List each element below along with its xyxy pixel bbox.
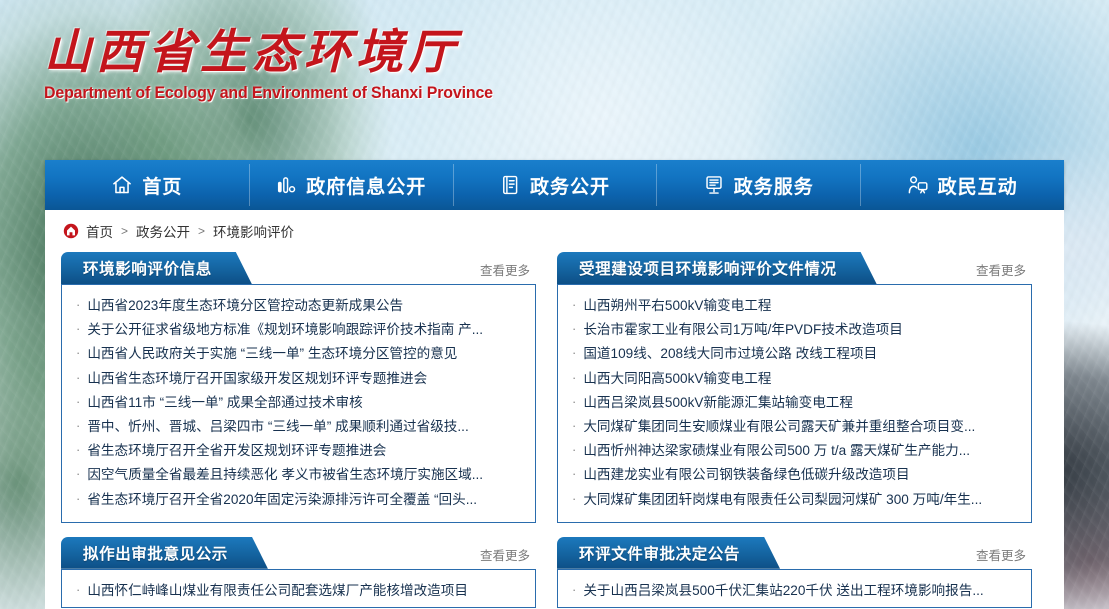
bullet-icon: · [76, 443, 80, 456]
bullet-icon: · [76, 492, 80, 505]
list-item[interactable]: ·山西怀仁峙峰山煤业有限责任公司配套选煤厂产能核增改造项目 [76, 579, 521, 603]
view-more-link[interactable]: 查看更多 [976, 545, 1032, 569]
bullet-icon: · [572, 583, 576, 596]
bullet-icon: · [572, 443, 576, 456]
bullet-icon: · [76, 419, 80, 432]
breadcrumb-separator: > [197, 224, 206, 238]
nav-item-government-affairs-disclosure[interactable]: 政务公开 [453, 160, 657, 210]
main-navigation[interactable]: 首页 政府信息公开 政务公开 [45, 160, 1064, 210]
panel-body: ·山西省2023年度生态环境分区管控动态更新成果公告 ·关于公开征求省级地方标准… [61, 284, 536, 523]
site-logo[interactable]: 山西省生态环境厅 Department of Ecology and Envir… [44, 26, 464, 103]
list-item[interactable]: ·山西吕梁岚县500kV新能源汇集站输变电工程 [572, 391, 1017, 415]
panel-title-tab[interactable]: 拟作出审批意见公示 [61, 537, 268, 569]
nav-label-citizen-interaction: 政民互动 [938, 172, 1018, 199]
list-item-title: 晋中、忻州、晋城、吕梁四市 “三线一单” 成果顺利通过省级技... [87, 415, 468, 435]
bullet-icon: · [572, 298, 576, 311]
list-item-title: 山西省2023年度生态环境分区管控动态更新成果公告 [87, 294, 403, 314]
list-item-title: 大同煤矿集团同生安顺煤业有限公司露天矿兼并重组整合项目变... [583, 415, 975, 435]
bullet-icon: · [572, 346, 576, 359]
bullet-icon: · [572, 467, 576, 480]
list-item[interactable]: ·因空气质量全省最差且持续恶化 孝义市被省生态环境厅实施区域... [76, 463, 521, 487]
bullet-icon: · [76, 346, 80, 359]
nav-item-government-info-disclosure[interactable]: 政府信息公开 [249, 160, 453, 210]
view-more-link[interactable]: 查看更多 [976, 260, 1032, 284]
bullet-icon: · [76, 583, 80, 596]
list-item-title: 山西忻州神达梁家碛煤业有限公司500 万 t/a 露天煤矿生产能力... [583, 439, 970, 459]
panel-body: ·山西朔州平右500kV输变电工程 ·长治市霍家工业有限公司1万吨/年PVDF技… [557, 284, 1032, 523]
panel-title-text: 拟作出审批意见公示 [83, 542, 228, 564]
list-item[interactable]: ·山西朔州平右500kV输变电工程 [572, 294, 1017, 318]
list-item-title: 山西大同阳高500kV输变电工程 [583, 367, 771, 387]
interaction-icon [907, 174, 929, 196]
panel-title-text: 受理建设项目环境影响评价文件情况 [579, 257, 837, 279]
bullet-icon: · [572, 419, 576, 432]
list-item[interactable]: ·大同煤矿集团团轩岗煤电有限责任公司梨园河煤矿 300 万吨/年生... [572, 488, 1017, 512]
list-item-title: 大同煤矿集团团轩岗煤电有限责任公司梨园河煤矿 300 万吨/年生... [583, 488, 982, 508]
panel-title-text: 环评文件审批决定公告 [579, 542, 740, 564]
nav-item-home[interactable]: 首页 [45, 160, 249, 210]
list-item[interactable]: ·山西建龙实业有限公司钢铁装备绿色低碳升级改造项目 [572, 463, 1017, 487]
site-title-english: Department of Ecology and Environment of… [44, 84, 458, 103]
bullet-icon: · [572, 371, 576, 384]
panel-header: 拟作出审批意见公示 查看更多 [61, 537, 536, 569]
nav-label-government-info-disclosure: 政府信息公开 [306, 172, 426, 199]
list-item-title: 山西建龙实业有限公司钢铁装备绿色低碳升级改造项目 [583, 463, 909, 483]
panel-body: ·关于山西吕梁岚县500千伏汇集站220千伏 送出工程环境影响报告... [557, 569, 1032, 608]
list-item-title: 山西省生态环境厅召开国家级开发区规划环评专题推进会 [87, 367, 427, 387]
panel-body: ·山西怀仁峙峰山煤业有限责任公司配套选煤厂产能核增改造项目 [61, 569, 536, 608]
list-item-title: 国道109线、208线大同市过境公路 改线工程项目 [583, 342, 877, 362]
bullet-icon: · [76, 298, 80, 311]
bullet-icon: · [76, 467, 80, 480]
list-item-title: 省生态环境厅召开全省2020年固定污染源排污许可全覆盖 “回头... [87, 488, 477, 508]
news-list: ·山西朔州平右500kV输变电工程 ·长治市霍家工业有限公司1万吨/年PVDF技… [572, 294, 1017, 512]
bar-chart-icon [275, 174, 297, 196]
list-item-title: 山西省人民政府关于实施 “三线一单” 生态环境分区管控的意见 [87, 342, 457, 362]
view-more-link[interactable]: 查看更多 [480, 260, 536, 284]
bullet-icon: · [76, 371, 80, 384]
home-icon [111, 174, 133, 196]
list-item[interactable]: ·山西大同阳高500kV输变电工程 [572, 367, 1017, 391]
list-item-title: 山西朔州平右500kV输变电工程 [583, 294, 771, 314]
list-item[interactable]: ·大同煤矿集团同生安顺煤业有限公司露天矿兼并重组整合项目变... [572, 415, 1017, 439]
monitor-icon [703, 174, 725, 196]
list-item-title: 关于公开征求省级地方标准《规划环境影响跟踪评价技术指南 产... [87, 318, 483, 338]
list-item[interactable]: ·关于公开征求省级地方标准《规划环境影响跟踪评价技术指南 产... [76, 318, 521, 342]
panel-title-text: 环境影响评价信息 [83, 257, 212, 279]
bullet-icon: · [76, 395, 80, 408]
list-item[interactable]: ·山西忻州神达梁家碛煤业有限公司500 万 t/a 露天煤矿生产能力... [572, 439, 1017, 463]
list-item[interactable]: ·长治市霍家工业有限公司1万吨/年PVDF技术改造项目 [572, 318, 1017, 342]
list-item[interactable]: ·省生态环境厅召开全省开发区规划环评专题推进会 [76, 439, 521, 463]
bullet-icon: · [572, 322, 576, 335]
panel-header: 受理建设项目环境影响评价文件情况 查看更多 [557, 252, 1032, 284]
breadcrumb: 首页 > 政务公开 > 环境影响评价 [45, 210, 1064, 252]
list-item[interactable]: ·山西省11市 “三线一单” 成果全部通过技术审核 [76, 391, 521, 415]
list-item[interactable]: ·国道109线、208线大同市过境公路 改线工程项目 [572, 342, 1017, 366]
list-item-title: 省生态环境厅召开全省开发区规划环评专题推进会 [87, 439, 386, 459]
nav-label-home: 首页 [142, 172, 182, 199]
home-circle-icon[interactable] [63, 223, 79, 239]
news-list: ·关于山西吕梁岚县500千伏汇集站220千伏 送出工程环境影响报告... [572, 579, 1017, 603]
view-more-link[interactable]: 查看更多 [480, 545, 536, 569]
list-item-title: 山西怀仁峙峰山煤业有限责任公司配套选煤厂产能核增改造项目 [87, 579, 468, 599]
list-item-title: 因空气质量全省最差且持续恶化 孝义市被省生态环境厅实施区域... [87, 463, 483, 483]
nav-label-government-services: 政务服务 [734, 172, 814, 199]
panel-environmental-impact-assessment-info: 环境影响评价信息 查看更多 ·山西省2023年度生态环境分区管控动态更新成果公告… [61, 252, 536, 523]
list-item[interactable]: ·省生态环境厅召开全省2020年固定污染源排污许可全覆盖 “回头... [76, 488, 521, 512]
panel-title-tab[interactable]: 环境影响评价信息 [61, 252, 252, 284]
news-list: ·山西怀仁峙峰山煤业有限责任公司配套选煤厂产能核增改造项目 [76, 579, 521, 603]
list-item[interactable]: ·山西省生态环境厅召开国家级开发区规划环评专题推进会 [76, 367, 521, 391]
panel-grid: 环境影响评价信息 查看更多 ·山西省2023年度生态环境分区管控动态更新成果公告… [45, 252, 1064, 608]
list-item-title: 山西吕梁岚县500kV新能源汇集站输变电工程 [583, 391, 853, 411]
nav-label-government-affairs-disclosure: 政务公开 [530, 172, 610, 199]
nav-item-citizen-interaction[interactable]: 政民互动 [860, 160, 1064, 210]
list-item-title: 山西省11市 “三线一单” 成果全部通过技术审核 [87, 391, 362, 411]
breadcrumb-separator: > [120, 224, 129, 238]
news-list: ·山西省2023年度生态环境分区管控动态更新成果公告 ·关于公开征求省级地方标准… [76, 294, 521, 512]
breadcrumb-item-home[interactable]: 首页 [86, 221, 113, 241]
bullet-icon: · [76, 322, 80, 335]
panel-accepted-eia-documents: 受理建设项目环境影响评价文件情况 查看更多 ·山西朔州平右500kV输变电工程 … [557, 252, 1032, 523]
breadcrumb-item-current: 环境影响评价 [213, 221, 294, 241]
list-item[interactable]: ·山西省2023年度生态环境分区管控动态更新成果公告 [76, 294, 521, 318]
document-icon [499, 174, 521, 196]
list-item[interactable]: ·晋中、忻州、晋城、吕梁四市 “三线一单” 成果顺利通过省级技... [76, 415, 521, 439]
panel-header: 环境影响评价信息 查看更多 [61, 252, 536, 284]
site-header: 山西省生态环境厅 Department of Ecology and Envir… [0, 0, 1109, 160]
panel-eia-approval-decision-announcement: 环评文件审批决定公告 查看更多 ·关于山西吕梁岚县500千伏汇集站220千伏 送… [557, 537, 1032, 608]
list-item-title: 长治市霍家工业有限公司1万吨/年PVDF技术改造项目 [583, 318, 902, 338]
page-root: 山西省生态环境厅 Department of Ecology and Envir… [0, 0, 1109, 609]
nav-item-government-services[interactable]: 政务服务 [656, 160, 860, 210]
panel-draft-approval-opinion-publicity: 拟作出审批意见公示 查看更多 ·山西怀仁峙峰山煤业有限责任公司配套选煤厂产能核增… [61, 537, 536, 608]
bullet-icon: · [572, 395, 576, 408]
panel-title-tab[interactable]: 受理建设项目环境影响评价文件情况 [557, 252, 877, 284]
list-item[interactable]: ·山西省人民政府关于实施 “三线一单” 生态环境分区管控的意见 [76, 342, 521, 366]
breadcrumb-item-government-affairs-disclosure[interactable]: 政务公开 [136, 221, 190, 241]
bullet-icon: · [572, 492, 576, 505]
panel-title-tab[interactable]: 环评文件审批决定公告 [557, 537, 780, 569]
content-area: 首页 > 政务公开 > 环境影响评价 环境影响评价信息 查看更多 ·山西省202… [45, 210, 1064, 609]
panel-header: 环评文件审批决定公告 查看更多 [557, 537, 1032, 569]
list-item-title: 关于山西吕梁岚县500千伏汇集站220千伏 送出工程环境影响报告... [583, 579, 983, 599]
list-item[interactable]: ·关于山西吕梁岚县500千伏汇集站220千伏 送出工程环境影响报告... [572, 579, 1017, 603]
site-title-chinese: 山西省生态环境厅 [44, 26, 464, 81]
